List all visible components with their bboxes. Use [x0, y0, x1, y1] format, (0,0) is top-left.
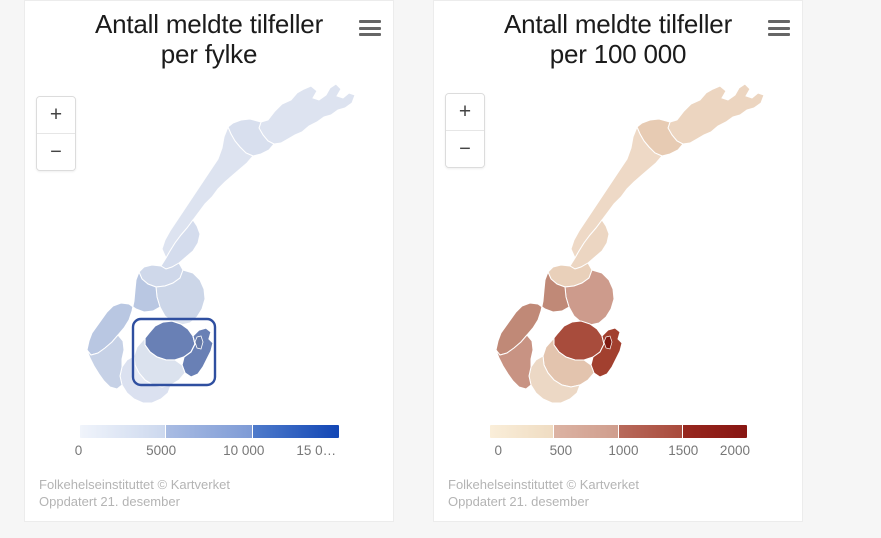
hamburger-menu-icon[interactable]: [768, 19, 790, 37]
colorbar-ticks-red: 0 500 1000 1500 2000: [482, 443, 754, 459]
map-region-troms-finnmark[interactable]: [668, 84, 764, 144]
panel-title-line2: per 100 000: [468, 39, 768, 69]
hamburger-bar: [359, 20, 381, 23]
hamburger-bar: [768, 33, 790, 36]
map-zoom-controls-left[interactable]: + −: [36, 96, 76, 171]
colorbar-segment: [683, 425, 747, 438]
map-norway-cases-by-county[interactable]: [25, 71, 394, 421]
panel-title-line2: per fylke: [59, 39, 359, 69]
panel-title-cases-per-100000: Antall meldte tilfeller per 100 000: [434, 9, 802, 70]
zoom-out-button[interactable]: −: [37, 133, 75, 170]
attribution-source: Folkehelseinstituttet © Kartverket: [448, 477, 639, 494]
hamburger-menu-icon[interactable]: [359, 19, 381, 37]
colorbar-segment: [490, 425, 555, 438]
hamburger-bar: [359, 33, 381, 36]
panel-title-line1: Antall meldte tilfeller: [95, 9, 323, 39]
colorbar-segment: [554, 425, 619, 438]
colorbar-segment: [253, 425, 339, 438]
zoom-out-button[interactable]: −: [446, 130, 484, 167]
map-region-nordland[interactable]: [162, 127, 253, 258]
map-region-troms-finnmark[interactable]: [259, 84, 355, 144]
attribution-updated: Oppdatert 21. desember: [448, 494, 639, 511]
map-region-nordland[interactable]: [571, 127, 662, 258]
zoom-in-button[interactable]: +: [446, 94, 484, 130]
colorbar-red: [490, 425, 747, 438]
colorbar-blue: [80, 425, 339, 438]
colorbar-tick: 1000: [608, 443, 638, 458]
zoom-in-button[interactable]: +: [37, 97, 75, 133]
colorbar-tick: 0: [495, 443, 503, 458]
map-norway-cases-per-100000[interactable]: [434, 71, 803, 421]
attribution-source: Folkehelseinstituttet © Kartverket: [39, 477, 230, 494]
dashboard-stage: Antall meldte tilfeller per fylke + −: [0, 0, 881, 538]
hamburger-bar: [359, 27, 381, 30]
colorbar-tick: 0: [75, 443, 83, 458]
map-selection-box[interactable]: [133, 319, 215, 385]
map-zoom-controls-right[interactable]: + −: [445, 93, 485, 168]
colorbar-segment: [80, 425, 167, 438]
colorbar-tick: 10 000: [223, 443, 264, 458]
hamburger-bar: [768, 27, 790, 30]
panel-title-cases-by-county: Antall meldte tilfeller per fylke: [25, 9, 393, 70]
attribution-updated: Oppdatert 21. desember: [39, 494, 230, 511]
colorbar-tick: 500: [550, 443, 573, 458]
colorbar-segment: [619, 425, 684, 438]
map-attribution-right: Folkehelseinstituttet © Kartverket Oppda…: [448, 477, 639, 511]
map-attribution-left: Folkehelseinstituttet © Kartverket Oppda…: [39, 477, 230, 511]
colorbar-tick: 15 0…: [296, 443, 336, 458]
colorbar-tick: 2000: [720, 443, 750, 458]
panel-cases-by-county: Antall meldte tilfeller per fylke + −: [24, 0, 394, 522]
panel-title-line1: Antall meldte tilfeller: [504, 9, 732, 39]
hamburger-bar: [768, 20, 790, 23]
panel-cases-per-100000: Antall meldte tilfeller per 100 000 + −: [433, 0, 803, 522]
legend-cases-per-100000: 0 500 1000 1500 2000: [434, 425, 802, 459]
colorbar-segment: [166, 425, 253, 438]
colorbar-tick: 1500: [668, 443, 698, 458]
colorbar-tick: 5000: [146, 443, 176, 458]
legend-cases-by-county: 0 5000 10 000 15 0…: [25, 425, 393, 459]
colorbar-ticks-blue: 0 5000 10 000 15 0…: [64, 443, 354, 459]
